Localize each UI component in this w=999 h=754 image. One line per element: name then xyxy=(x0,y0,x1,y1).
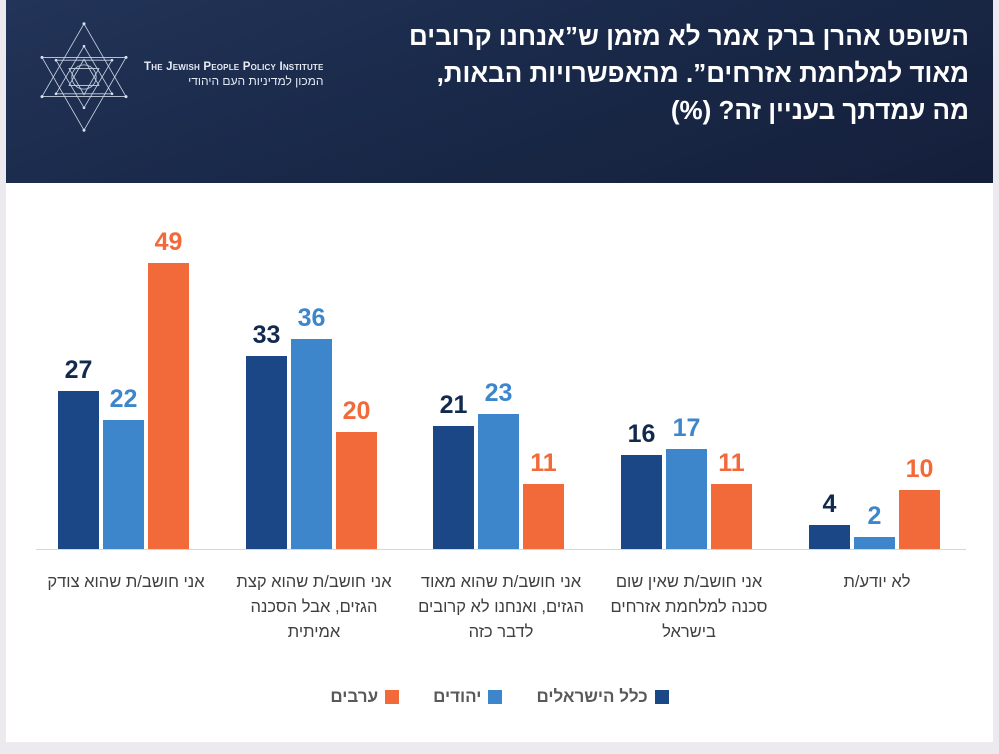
bar-value-label: 36 xyxy=(282,306,341,331)
bar[interactable] xyxy=(433,426,474,548)
bar-value-label: 17 xyxy=(657,416,716,441)
chart-area: 2722493336202123111617114210 אני חושב/ת … xyxy=(6,183,993,742)
bar[interactable] xyxy=(666,449,707,548)
legend-label: כלל הישראלים xyxy=(536,687,647,707)
category-label: אני חושב/ת שאין שום סכנה למלחמת אזרחים ב… xyxy=(601,570,777,645)
bar[interactable] xyxy=(336,432,377,549)
bar[interactable] xyxy=(711,484,752,548)
bar-value-label: 22 xyxy=(94,387,153,412)
legend-label: ערבים xyxy=(330,687,378,707)
bar[interactable] xyxy=(809,525,850,548)
logo-text-block: The Jewish People Policy Institute המכון… xyxy=(144,61,324,92)
bar-value-label: 11 xyxy=(514,451,573,476)
logo-english-name: The Jewish People Policy Institute xyxy=(144,61,324,73)
bar-value-label: 10 xyxy=(890,457,949,482)
bar-group: 272249 xyxy=(58,249,189,549)
legend-item[interactable]: כלל הישראלים xyxy=(536,687,668,707)
bar-value-label: 23 xyxy=(469,381,528,406)
bar[interactable] xyxy=(621,455,662,548)
bar-value-label: 2 xyxy=(845,504,904,529)
bar[interactable] xyxy=(523,484,564,548)
logo-hebrew-name: המכון למדיניות העם היהודי xyxy=(144,74,324,88)
slide-canvas: The Jewish People Policy Institute המכון… xyxy=(6,0,993,742)
bar[interactable] xyxy=(103,420,144,548)
category-label: אני חושב/ת שהוא מאוד הגזים, ואנחנו לא קר… xyxy=(413,570,589,645)
bar[interactable] xyxy=(58,391,99,548)
jppi-logo: The Jewish People Policy Institute המכון… xyxy=(28,14,313,139)
legend-item[interactable]: ערבים xyxy=(330,687,399,707)
category-label: לא יודע/ת xyxy=(802,570,952,595)
chart-question-title: השופט אהרן ברק אמר לא מזמן ש”אנחנו קרובי… xyxy=(309,18,969,129)
legend-color-swatch xyxy=(488,690,502,704)
title-line-1: השופט אהרן ברק אמר לא מזמן ש”אנחנו קרובי… xyxy=(309,18,969,55)
bar[interactable] xyxy=(478,414,519,548)
category-labels: אני חושב/ת שהוא צודקאני חושב/ת שהוא קצת … xyxy=(18,570,981,670)
title-line-3: מה עמדתך בעניין זה? (%) xyxy=(309,92,969,129)
category-label: אני חושב/ת שהוא צודק xyxy=(38,570,214,595)
legend-label: יהודים xyxy=(433,687,481,707)
legend-color-swatch xyxy=(655,690,669,704)
bar[interactable] xyxy=(246,356,287,548)
header-banner: The Jewish People Policy Institute המכון… xyxy=(6,0,993,183)
bar-group: 333620 xyxy=(246,249,377,549)
bar-value-label: 20 xyxy=(327,399,386,424)
bar-group: 212311 xyxy=(433,249,564,549)
bar[interactable] xyxy=(148,263,189,549)
legend-item[interactable]: יהודים xyxy=(433,687,502,707)
category-label: אני חושב/ת שהוא קצת הגזים, אבל הסכנה אמי… xyxy=(226,570,402,645)
chart-legend: כלל הישראליםיהודיםערבים xyxy=(6,680,993,714)
legend-color-swatch xyxy=(385,690,399,704)
bar[interactable] xyxy=(291,339,332,549)
bar-group: 4210 xyxy=(809,249,940,549)
star-of-david-logo-icon xyxy=(28,18,140,136)
bar[interactable] xyxy=(899,490,940,548)
bar-group: 161711 xyxy=(621,249,752,549)
bar-plot: 2722493336202123111617114210 xyxy=(18,203,981,550)
bar-value-label: 49 xyxy=(139,230,198,255)
bar[interactable] xyxy=(854,537,895,549)
title-line-2: מאוד למלחמת אזרחים”. מהאפשרויות הבאות, xyxy=(309,55,969,92)
bar-value-label: 11 xyxy=(702,451,761,476)
bar-value-label: 27 xyxy=(49,358,108,383)
x-axis-line xyxy=(36,549,966,551)
